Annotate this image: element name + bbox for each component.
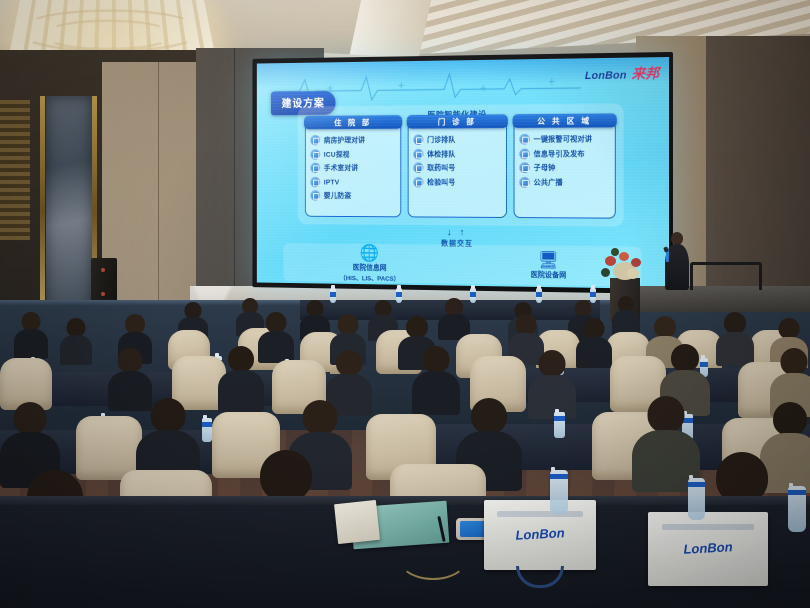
bag-top-strip [662,524,753,530]
audience-member [14,312,48,356]
logo-text-chinese: 来邦 [631,63,659,83]
water-bottle [788,486,806,532]
conference-photo: LonBon 来邦 建设方案 医院智能化建设 住 院 部 病房护理对讲 ICU探… [0,0,810,608]
list-item: 体检排队 [413,148,503,159]
bullet-icon [310,149,320,159]
water-bottle [470,288,476,303]
column-public-area: 公 共 区 域 一键报警可视对讲 信息导引及发布 子母钟 公共广播 [514,120,616,218]
list-item-label: 公共广播 [534,176,563,187]
globe-icon: 🌐 [283,244,457,263]
logo-text-english: LonBon [585,70,627,82]
list-item: 病房护理对讲 [310,134,397,145]
list-item-label: 病房护理对讲 [324,135,365,146]
wall-gold-trim-left [40,96,45,326]
lonbon-logo: LonBon 来邦 [585,63,659,84]
bag-top-strip [497,511,582,517]
water-bottle [554,412,565,438]
bag-logo-text: LonBon [683,539,733,557]
water-bottle [688,478,705,520]
list-item-label: 取药叫号 [427,162,455,173]
bullet-icon [413,176,423,187]
audience-member [576,318,612,366]
list-item: 门诊排队 [413,134,503,145]
column-header-public-area: 公 共 区 域 [513,113,617,128]
bullet-icon [310,163,320,173]
water-bottle [330,288,336,303]
list-item-label: ICU探视 [324,149,350,160]
list-item: 子母钟 [519,162,612,173]
column-inpatient: 住 院 部 病房护理对讲 ICU探视 手术室对讲 IPTV 婴儿防盗 [305,122,401,217]
column-header-inpatient: 住 院 部 [304,115,402,129]
audience-member [218,346,264,408]
bullet-icon [519,134,529,145]
list-item-label: 检验叫号 [427,176,455,187]
list-item-label: 门诊排队 [427,134,455,145]
ceiling-beam [348,0,432,62]
list-item: ICU探视 [310,148,397,159]
node-hospital-information-network: 🌐 医院信息网 （HIS、LIS、PACS） [283,244,457,284]
bullet-icon [519,162,529,173]
bullet-icon [310,176,320,186]
audience-member [528,350,576,414]
slide-main-panel: 医院智能化建设 住 院 部 病房护理对讲 ICU探视 手术室对讲 IPTV 婴儿… [298,103,624,226]
list-item-label: 婴儿防盗 [324,190,351,201]
bullet-icon [310,190,320,201]
list-item-label: 信息导引及发布 [534,148,585,159]
charging-cable [398,536,468,580]
node-label-line2: （HIS、LIS、PACS） [283,271,457,283]
audience-member [612,296,640,336]
list-item-label: 手术室对讲 [324,162,358,173]
list-item: 公共广播 [519,176,612,187]
list-item: 婴儿防盗 [310,190,397,201]
audience-member [412,346,460,410]
bullet-icon [413,162,423,173]
platform-stair-rail [690,262,762,290]
slide-bottom-bar: 🌐 医院信息网 （HIS、LIS、PACS） 🖥 医院设备网 [283,243,641,286]
list-item: 检验叫号 [413,176,503,187]
water-bottle [202,418,212,442]
tote-bag: LonBon [484,500,596,570]
bag-logo-text: LonBon [515,525,565,543]
column-outpatient: 门 诊 部 门诊排队 体检排队 取药叫号 检验叫号 [408,121,507,218]
column-header-outpatient: 门 诊 部 [407,114,508,128]
flower-arrangement [597,246,653,286]
list-item: 取药叫号 [413,162,503,173]
list-item-label: IPTV [324,177,340,186]
audience-member [438,298,470,338]
bullet-icon [519,176,529,187]
bullet-icon [519,148,529,159]
list-item-label: 一键报警可视对讲 [534,133,593,144]
water-bottle [536,288,542,303]
tote-bag: LonBon [648,512,768,586]
list-item-label: 体检排队 [427,148,455,159]
list-item-label: 子母钟 [534,162,556,173]
water-bottle [550,470,568,514]
audience-member [60,318,92,362]
wall-marble-inlay [46,96,92,326]
list-item: 一键报警可视对讲 [519,133,612,144]
slide-columns: 住 院 部 病房护理对讲 ICU探视 手术室对讲 IPTV 婴儿防盗 门 诊 部… [305,120,616,218]
brochure-page [334,500,380,544]
list-item: IPTV [310,176,397,187]
audience-member [716,312,754,362]
list-item: 信息导引及发布 [519,148,612,159]
bullet-icon [413,134,423,145]
presenter [660,232,694,290]
list-item: 手术室对讲 [310,162,397,173]
bullet-icon [413,148,423,159]
wall-lattice-screen [0,100,30,240]
bullet-icon [310,135,320,146]
